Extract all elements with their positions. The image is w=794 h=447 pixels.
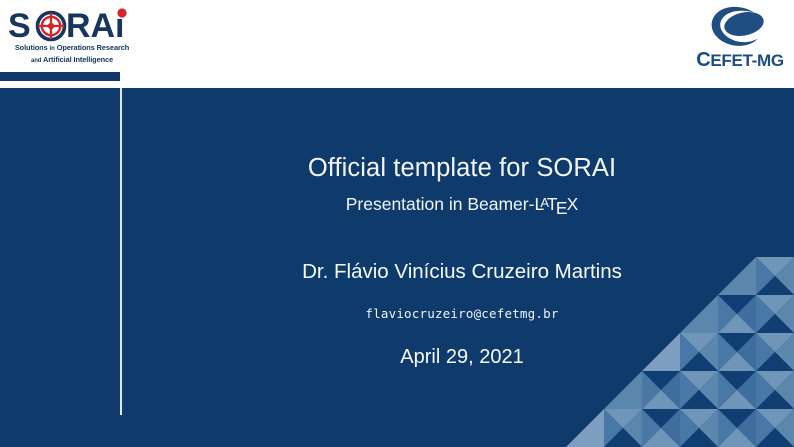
left-accent-line	[120, 88, 122, 415]
presentation-author: Dr. Flávio Vinícius Cruzeiro Martins	[130, 260, 794, 284]
svg-text:S: S	[8, 7, 31, 44]
slide-body: Official template for SORAI Presentation…	[0, 88, 794, 447]
presentation-subtitle: Presentation in Beamer-LATEX	[130, 194, 794, 219]
sorai-logo: S RA ı Solutions in Operations	[6, 6, 136, 68]
presentation-title: Official template for SORAI	[130, 154, 794, 183]
subtitle-prefix: Presentation in Beamer-	[346, 194, 535, 214]
slide-header: S RA ı Solutions in Operations	[0, 0, 794, 88]
author-email: flaviocruzeiro@cefetmg.br	[130, 306, 794, 321]
sorai-tagline-word-2: in	[50, 46, 55, 52]
sorai-tagline-word-4: and	[31, 58, 41, 64]
cefet-swoosh-icon	[706, 5, 772, 49]
latex-logo: LATEX	[534, 194, 578, 214]
header-accent-rule	[0, 72, 120, 81]
presentation-date: April 29, 2021	[130, 346, 794, 369]
title-block: Official template for SORAI Presentation…	[130, 88, 794, 447]
sorai-tagline-word-1: Solutions	[15, 43, 48, 52]
sorai-wordmark-icon: S RA ı	[6, 6, 136, 44]
cefet-wordmark-rest: EFET-MG	[710, 51, 783, 70]
presentation-title-slide: S RA ı Solutions in Operations	[0, 0, 794, 447]
sorai-tagline-word-3: Operations Research	[57, 43, 129, 52]
svg-text:RA: RA	[66, 7, 115, 44]
cefet-mg-logo: CEFET-MG	[688, 5, 792, 77]
cefet-mg-wordmark: CEFET-MG	[688, 49, 792, 72]
sorai-tagline: Solutions in Operations Research and Art…	[9, 43, 135, 66]
latex-x: X	[567, 194, 579, 214]
sorai-tagline-word-5: Artificial Intelligence	[43, 55, 113, 64]
cefet-wordmark-initial: C	[696, 49, 710, 71]
